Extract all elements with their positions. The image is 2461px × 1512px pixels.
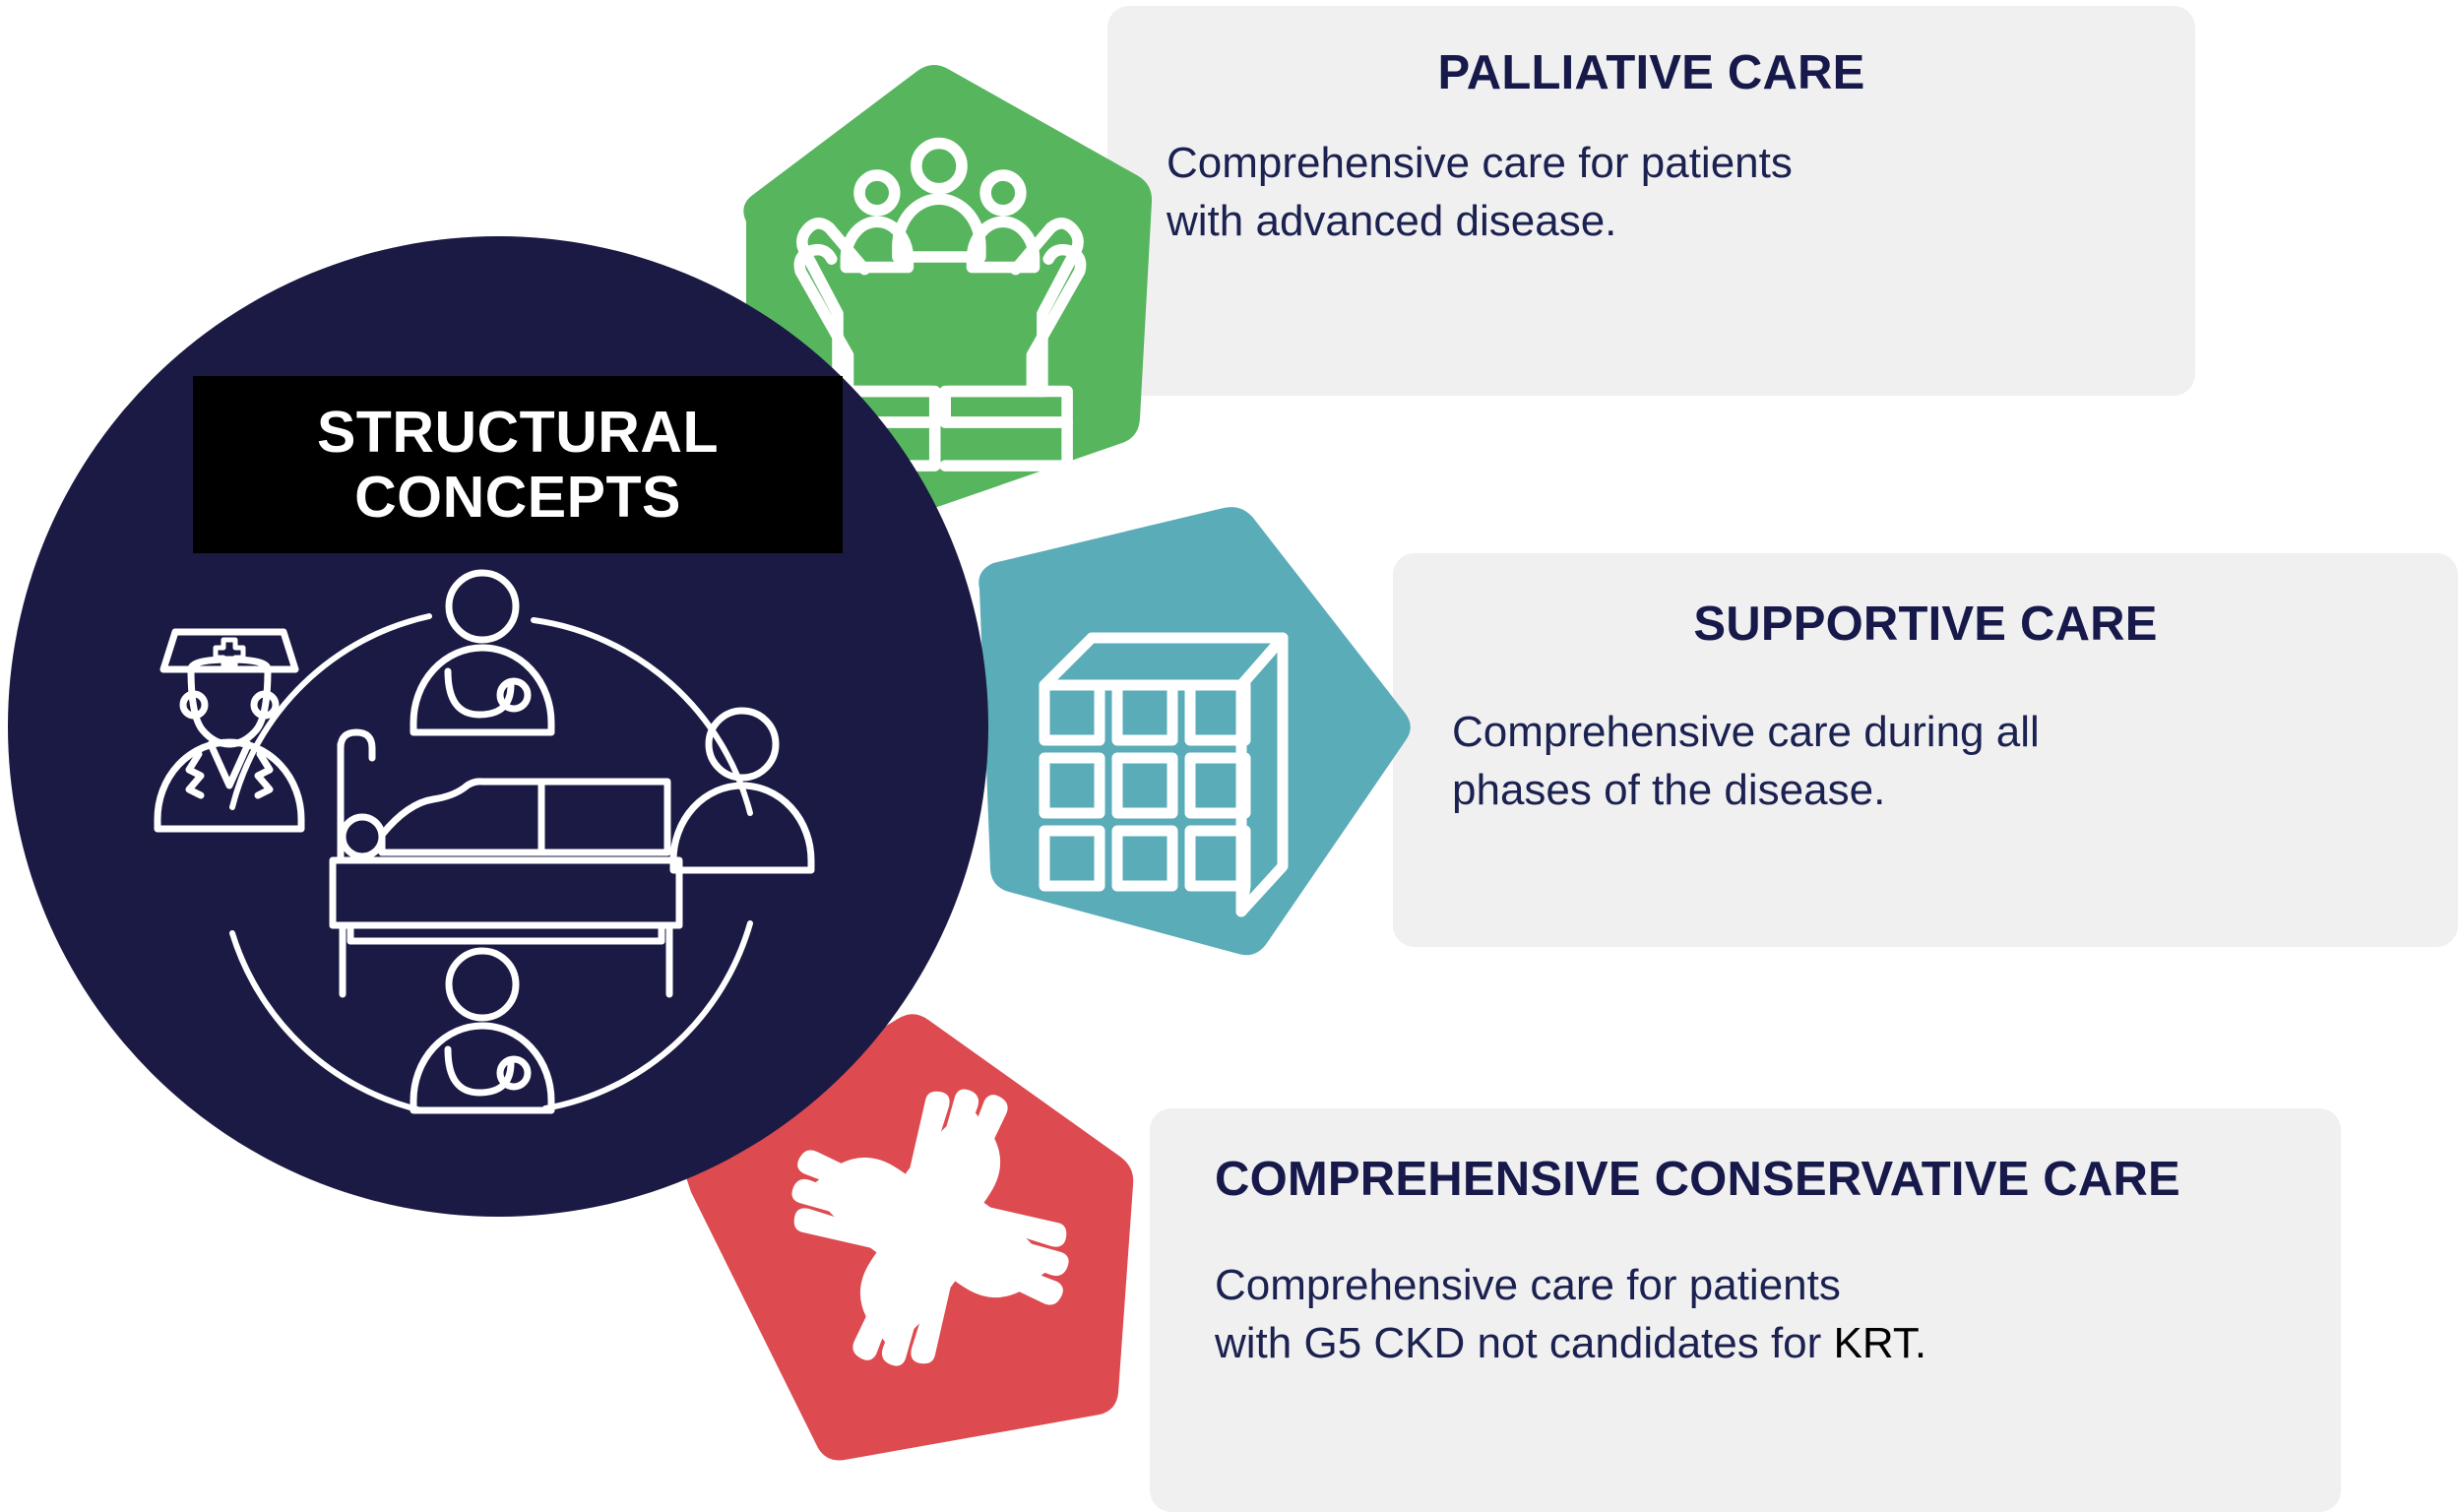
card-conservative-heading: COMPREHENSIVE CONSERVATIVE CARE <box>1215 1152 2276 1208</box>
card-conservative-care: COMPREHENSIVE CONSERVATIVE CARE Comprehe… <box>1150 1108 2341 1512</box>
pentagon-supportive-care[interactable] <box>950 502 1452 1014</box>
page-title: STRUCTURAL CONCEPTS <box>317 400 719 530</box>
card-supportive-care: SUPPORTIVE CARE Comprehensive care durin… <box>1393 553 2458 947</box>
nurse-left-icon <box>158 632 301 829</box>
care-team-circle-illustration <box>148 561 837 1171</box>
card-conservative-body-emphasis: KRT. <box>1834 1319 1927 1367</box>
card-conservative-body-lead: Comprehensive care for patients with G5 … <box>1215 1261 1841 1367</box>
doctor-top-icon <box>413 573 551 732</box>
card-palliative-care: PALLIATIVE CARE Comprehensive care for p… <box>1107 6 2195 396</box>
card-supportive-heading: SUPPORTIVE CARE <box>1452 597 2399 653</box>
hospital-bed-patient-icon <box>333 732 679 994</box>
doctor-bottom-icon <box>413 951 551 1110</box>
card-supportive-body: Comprehensive care during all phases of … <box>1452 704 2399 820</box>
card-palliative-heading: PALLIATIVE CARE <box>1167 45 2136 101</box>
card-palliative-body: Comprehensive care for patients with adv… <box>1167 135 2136 251</box>
structural-concepts-title-band: STRUCTURAL CONCEPTS <box>193 376 843 553</box>
card-conservative-body: Comprehensive care for patients with G5 … <box>1215 1257 2276 1373</box>
